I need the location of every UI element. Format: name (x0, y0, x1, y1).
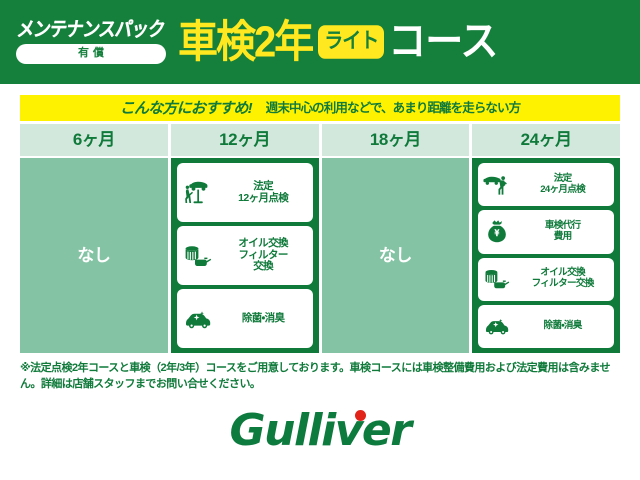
course-suffix-text: コース (388, 21, 497, 62)
recommendation-banner: こんな方におすすめ! 週末中心の利用などで、あまり距離を走らない方 (20, 95, 620, 121)
header-banner: メンテナンスパック 有償 車検2年 ライト コース (0, 0, 640, 84)
service-item: 車検代行 費用 (478, 210, 614, 253)
service-item-label: オイル交換 フィルター交換 (515, 268, 610, 289)
car-sanitize-icon (482, 311, 512, 341)
gulliver-logo-dot-icon (355, 410, 366, 421)
course-highlight-text: 車検2年 (178, 20, 312, 64)
column-header-18months: 18ヶ月 (322, 124, 470, 156)
oil-filter-change-icon (482, 264, 512, 294)
oil-filter-change-icon (181, 241, 215, 271)
maintenance-pack-title: メンテナンスパック (16, 19, 166, 39)
service-item: 除菌・消臭 (177, 289, 313, 348)
none-label-6months: なし (77, 247, 110, 264)
service-item-label: オイル交換 フィルター 交換 (218, 238, 309, 273)
column-body-12months: 法定 12ヶ月点検 オイル交換 フィルター 交換 (171, 158, 319, 353)
column-body-18months: なし (322, 158, 470, 353)
maintenance-pack-block: メンテナンスパック 有償 (16, 21, 166, 64)
car-lift-inspection-icon (181, 178, 215, 208)
paid-pill-badge: 有償 (16, 44, 166, 64)
car-lift-inspection-icon (482, 170, 512, 200)
maintenance-schedule-table: 6ヶ月 12ヶ月 18ヶ月 24ヶ月 なし (20, 124, 620, 353)
footnote-text: ※法定点検2年コースと車検（2年/3年）コースをご用意しております。車検コースに… (20, 361, 620, 393)
light-badge: ライト (318, 25, 384, 59)
service-item: オイル交換 フィルター交換 (478, 258, 614, 301)
service-item-label: 除菌・消臭 (218, 313, 309, 325)
course-title-block: 車検2年 ライト コース (178, 22, 626, 62)
column-header-6months: 6ヶ月 (20, 124, 168, 156)
brand-logo-area: Gulliver (0, 409, 640, 453)
none-label-18months: なし (379, 247, 412, 264)
column-body-6months: なし (20, 158, 168, 353)
service-item-label: 法定 24ヶ月点検 (515, 174, 610, 195)
service-item-label: 除菌・消臭 (515, 321, 610, 332)
service-item: 法定 12ヶ月点検 (177, 163, 313, 222)
recommendation-description: 週末中心の利用などで、あまり距離を走らない方 (266, 102, 520, 115)
recommendation-label: こんな方におすすめ! (120, 101, 252, 116)
column-header-24months: 24ヶ月 (472, 124, 620, 156)
service-item: オイル交換 フィルター 交換 (177, 226, 313, 285)
gulliver-logo-text: Gulliver (230, 405, 411, 456)
money-bag-icon (482, 217, 512, 247)
column-header-12months: 12ヶ月 (171, 124, 319, 156)
service-item: 除菌・消臭 (478, 305, 614, 348)
gulliver-logo: Gulliver (230, 409, 411, 453)
column-body-24months: 法定 24ヶ月点検 車検代行 費用 (472, 158, 620, 353)
car-sanitize-icon (181, 304, 215, 334)
service-item-label: 車検代行 費用 (515, 221, 610, 242)
service-item-label: 法定 12ヶ月点検 (218, 181, 309, 205)
service-item: 法定 24ヶ月点検 (478, 163, 614, 206)
